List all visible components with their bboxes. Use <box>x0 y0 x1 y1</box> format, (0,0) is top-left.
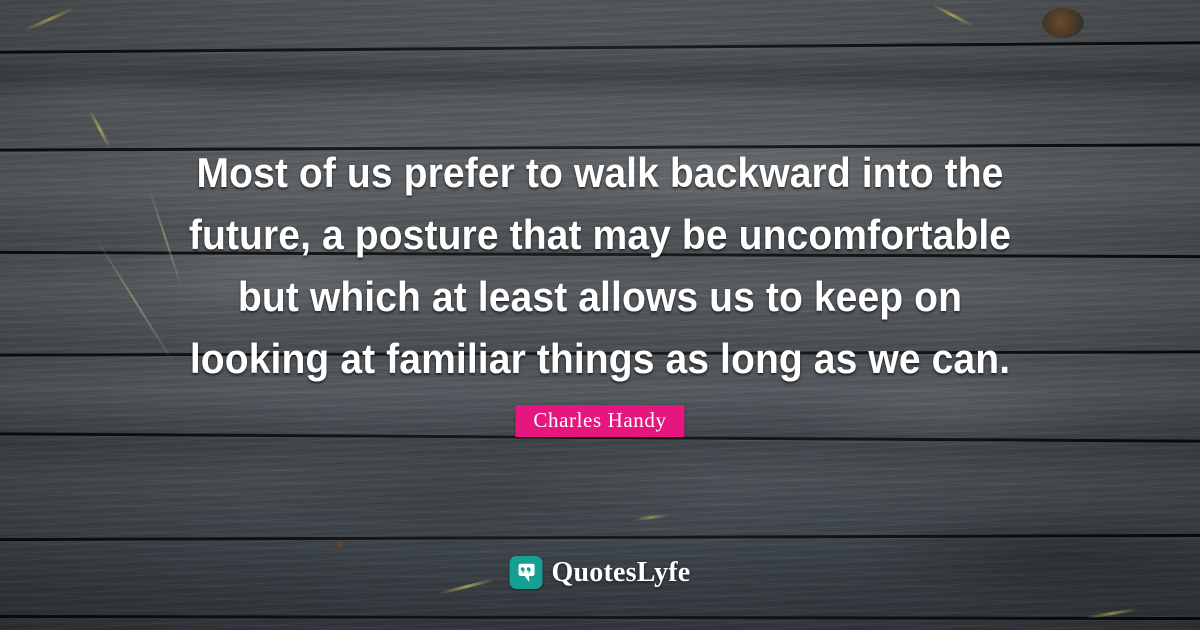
brand-name: QuotesLyfe <box>552 558 691 588</box>
brand-logo[interactable]: QuotesLyfe <box>510 556 691 589</box>
quotes-speech-bubble-icon <box>510 556 543 589</box>
quote-line: Most of us prefer to walk backward into … <box>131 142 1068 204</box>
quote-text: Most of us prefer to walk backward into … <box>0 142 1200 390</box>
author-badge: Charles Handy <box>515 405 684 437</box>
quote-line: looking at familiar things as long as we… <box>131 328 1068 390</box>
quote-line: future, a posture that may be uncomforta… <box>131 204 1068 266</box>
quote-card: Most of us prefer to walk backward into … <box>0 0 1200 630</box>
quote-line: but which at least allows us to keep on <box>131 266 1068 328</box>
